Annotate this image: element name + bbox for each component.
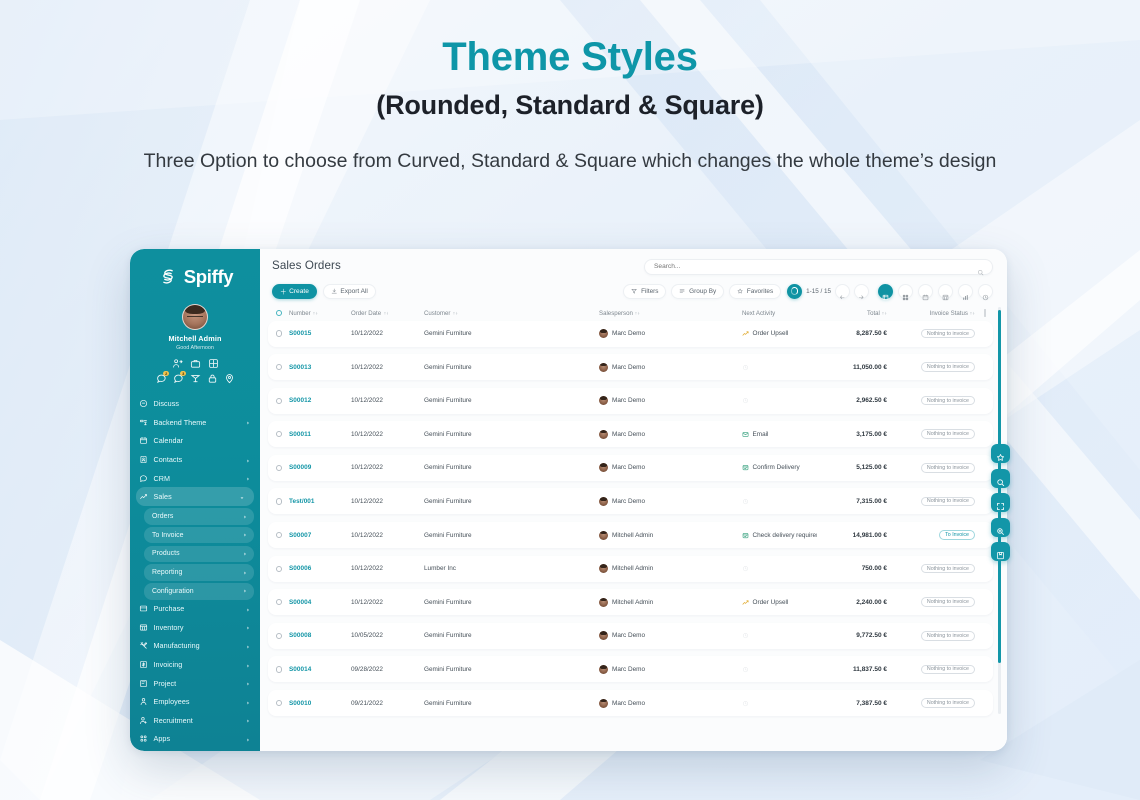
salesperson-avatar (599, 497, 608, 506)
breadcrumb: Sales Orders (272, 259, 341, 272)
sidebar-item-label: Discuss (154, 399, 252, 408)
sort-icon[interactable] (384, 311, 389, 316)
sidebar-item-calendar[interactable]: Calendar (130, 432, 260, 451)
total-amount: 7,387.50 € (856, 700, 887, 707)
row-checkbox[interactable] (272, 364, 289, 370)
checkbox-ring (276, 599, 282, 605)
sidebar-item-purchase[interactable]: Purchase (130, 600, 260, 619)
order-number-link[interactable]: S00008 (289, 632, 311, 639)
contacts-icon (139, 455, 148, 464)
cell-number[interactable]: S00009 (289, 464, 351, 471)
calendar-check-icon[interactable] (742, 464, 749, 471)
salesperson-name: Marc Demo (612, 364, 645, 371)
checkbox-ring (276, 465, 282, 471)
sidebar-item-project[interactable]: Project (130, 674, 260, 693)
sidebar-item-label: Calendar (154, 436, 252, 445)
cell-customer: Gemini Furniture (424, 364, 599, 371)
cell-invoice-status: Nothing to invoice (887, 396, 975, 406)
row-checkbox[interactable] (272, 566, 289, 572)
column-label: Salesperson (599, 310, 633, 317)
table-row[interactable]: S00012 10/12/2022 Gemini Furniture Marc … (268, 388, 993, 414)
create-label: Create (289, 288, 309, 295)
row-checkbox[interactable] (272, 330, 289, 336)
sidebar-item-label: Backend Theme (154, 418, 240, 427)
chevron-right-icon (245, 475, 251, 481)
cell-total: 7,315.00 € (817, 498, 887, 505)
cell-next-activity[interactable]: Order Upsell (742, 330, 817, 337)
cell-invoice-status: Nothing to invoice (887, 564, 975, 574)
order-number-link[interactable]: S00013 (289, 364, 311, 371)
row-checkbox[interactable] (272, 431, 289, 437)
total-amount: 2,240.00 € (856, 599, 887, 606)
status-badge: Nothing to invoice (921, 497, 975, 507)
status-badge: Nothing to invoice (921, 429, 975, 439)
cell-order-date: 10/12/2022 (351, 464, 424, 471)
cell-salesperson: Marc Demo (599, 631, 742, 640)
order-number-link[interactable]: S00006 (289, 565, 311, 572)
chevron-right-icon (245, 662, 251, 668)
cell-next-activity[interactable] (742, 666, 817, 673)
quick-icons-row-2: 2 3 (130, 373, 260, 384)
table-row[interactable]: Test/001 10/12/2022 Gemini Furniture Mar… (268, 488, 993, 514)
page-title: Theme Styles (0, 34, 1140, 80)
row-checkbox[interactable] (272, 666, 289, 672)
table-row[interactable]: S00006 10/12/2022 Lumber Inc Mitchell Ad… (268, 556, 993, 582)
row-checkbox[interactable] (272, 532, 289, 538)
filters-button[interactable]: Filters (623, 284, 666, 299)
clock-icon[interactable] (742, 700, 749, 707)
user-greeting: Good Afternoon (130, 345, 260, 351)
cell-invoice-status: Nothing to invoice (887, 497, 975, 507)
cell-salesperson: Marc Demo (599, 665, 742, 674)
status-badge: Nothing to invoice (921, 564, 975, 574)
kanban-view-icon[interactable] (898, 284, 913, 299)
sidebar-item-label: Manufacturing (154, 641, 240, 650)
sidebar-item-apps[interactable]: Apps (130, 730, 260, 749)
order-number-link[interactable]: S00015 (289, 330, 311, 337)
cell-number[interactable]: S00006 (289, 565, 351, 572)
user-switch-icon[interactable] (172, 358, 183, 369)
group-by-label: Group By (689, 288, 716, 295)
cell-order-date: 10/12/2022 (351, 431, 424, 438)
sidebar-item-label: Invoicing (154, 660, 240, 669)
chevron-right-icon (242, 551, 248, 557)
cell-salesperson: Marc Demo (599, 430, 742, 439)
column-header-salesperson[interactable]: Salesperson (599, 310, 742, 317)
cell-next-activity[interactable] (742, 565, 817, 572)
sidebar-item-products[interactable]: Products (144, 546, 254, 563)
cell-number[interactable]: S00014 (289, 666, 351, 673)
lock-icon[interactable] (207, 373, 218, 384)
total-amount: 2,962.50 € (856, 397, 887, 404)
cell-invoice-status: Nothing to invoice (887, 698, 975, 708)
plus-icon: ＋ (280, 286, 287, 296)
messages-badge: 2 (163, 371, 169, 377)
checkbox-ring (276, 310, 282, 316)
sidebar-item-manufacturing[interactable]: Manufacturing (130, 637, 260, 656)
cell-number[interactable]: S00010 (289, 700, 351, 707)
salesperson-avatar (599, 631, 608, 640)
chevron-right-icon (245, 699, 251, 705)
sidebar-item-label: Products (152, 550, 237, 557)
avatar-wrapper[interactable] (130, 304, 260, 330)
search-bar[interactable] (644, 259, 993, 275)
filters-label: Filters (641, 288, 658, 295)
pager-count: 1-15 / 15 (806, 288, 831, 295)
total-amount: 14,981.00 € (853, 532, 887, 539)
cell-order-date: 10/05/2022 (351, 632, 424, 639)
manufacturing-icon (139, 641, 148, 650)
total-amount: 9,772.50 € (856, 632, 887, 639)
order-number-link[interactable]: S00011 (289, 431, 311, 438)
column-label: Invoice Status (930, 310, 968, 317)
search-input[interactable] (654, 263, 977, 270)
sidebar-item-label: Employees (154, 697, 240, 706)
sidebar-item-label: Reporting (152, 569, 237, 576)
sort-icon[interactable] (313, 311, 318, 316)
sidebar-item-label: Project (154, 679, 240, 688)
salesperson-avatar (599, 430, 608, 439)
chevron-right-icon (242, 514, 248, 520)
activities-icon[interactable]: 3 (173, 373, 184, 384)
column-header-next-activity[interactable]: Next Activity (742, 310, 817, 317)
brand[interactable]: Spiffy (130, 261, 260, 293)
apps-icon (139, 734, 148, 743)
column-label: Number (289, 310, 311, 317)
chart-up-icon[interactable] (742, 599, 749, 606)
sales-icon (139, 492, 148, 501)
zoom-icon (996, 523, 1005, 532)
cell-next-activity[interactable]: Check delivery requirements (742, 532, 817, 539)
sidebar: Spiffy Mitchell Admin Good Afternoon (130, 249, 260, 751)
cell-salesperson: Mitchell Admin (599, 564, 742, 573)
favorites-label: Favorites (747, 288, 773, 295)
order-number-link[interactable]: Test/001 (289, 498, 315, 505)
group-by-button[interactable]: Group By (671, 284, 724, 299)
cell-customer: Gemini Furniture (424, 498, 599, 505)
table-area: Number Order Date Customer Salesperson N… (260, 306, 1007, 717)
salesperson-avatar (599, 329, 608, 338)
sidebar-item-reporting[interactable]: Reporting (144, 564, 254, 581)
cell-salesperson: Marc Demo (599, 363, 742, 372)
expand-icon (996, 498, 1005, 507)
zoom-button[interactable] (991, 518, 1010, 537)
cell-customer: Gemini Furniture (424, 330, 599, 337)
inventory-icon (139, 623, 148, 632)
cell-customer: Gemini Furniture (424, 632, 599, 639)
table-row[interactable]: S00008 10/05/2022 Gemini Furniture Marc … (268, 623, 993, 649)
app-window-mockup: Spiffy Mitchell Admin Good Afternoon (130, 249, 1007, 751)
cell-order-date: 09/28/2022 (351, 666, 424, 673)
column-header-number[interactable]: Number (289, 310, 351, 317)
order-number-link[interactable]: S00004 (289, 599, 311, 606)
cell-number[interactable]: S00011 (289, 431, 351, 438)
clock-icon[interactable] (742, 666, 749, 673)
cell-customer: Gemini Furniture (424, 666, 599, 673)
clock-icon[interactable] (742, 498, 749, 505)
row-checkbox[interactable] (272, 633, 289, 639)
row-checkbox[interactable] (272, 599, 289, 605)
order-number-link[interactable]: S00012 (289, 397, 311, 404)
next-activity-label: Order Upsell (753, 330, 789, 337)
cell-next-activity[interactable] (742, 397, 817, 404)
cell-number[interactable]: S00004 (289, 599, 351, 606)
cell-salesperson: Mitchell Admin (599, 531, 742, 540)
row-checkbox[interactable] (272, 465, 289, 471)
activities-badge: 3 (180, 371, 186, 377)
cell-next-activity[interactable] (742, 364, 817, 371)
messages-icon[interactable]: 2 (156, 373, 167, 384)
column-label: Order Date (351, 310, 381, 317)
cell-number[interactable]: S00013 (289, 364, 351, 371)
checkbox-ring (276, 330, 282, 336)
floating-toolbar (991, 444, 1010, 561)
status-badge: Nothing to invoice (921, 463, 975, 473)
salesperson-name: Marc Demo (612, 498, 645, 505)
salesperson-avatar (599, 564, 608, 573)
column-header-customer[interactable]: Customer (424, 310, 599, 317)
cell-invoice-status: To Invoice (887, 530, 975, 540)
sidebar-item-invoicing[interactable]: Invoicing (130, 655, 260, 674)
purchase-icon (139, 604, 148, 613)
cell-total: 2,240.00 € (817, 599, 887, 606)
cell-salesperson: Marc Demo (599, 463, 742, 472)
order-number-link[interactable]: S00010 (289, 700, 311, 707)
table-row[interactable]: S00009 10/12/2022 Gemini Furniture Marc … (268, 455, 993, 481)
cell-salesperson: Mitchell Admin (599, 598, 742, 607)
sidebar-item-settings[interactable]: Settings (130, 748, 260, 751)
cell-number[interactable]: S00007 (289, 532, 351, 539)
chevron-down-icon (239, 494, 245, 500)
pager: 1-15 / 15 (787, 284, 869, 299)
chevron-right-icon (245, 680, 251, 686)
graph-view-icon[interactable] (958, 284, 973, 299)
chevron-right-icon (245, 624, 251, 630)
cell-next-activity[interactable]: Order Upsell (742, 599, 817, 606)
row-checkbox[interactable] (272, 398, 289, 404)
star-icon (737, 288, 743, 294)
cell-customer: Gemini Furniture (424, 532, 599, 539)
checkbox-ring (276, 431, 282, 437)
clock-icon[interactable] (742, 397, 749, 404)
cell-total: 14,981.00 € (817, 532, 887, 539)
clock-icon[interactable] (742, 632, 749, 639)
salesperson-avatar (599, 396, 608, 405)
salesperson-name: Marc Demo (612, 397, 645, 404)
graph-view-glyph (962, 288, 969, 295)
cell-number[interactable]: S00012 (289, 397, 351, 404)
clock-icon[interactable] (742, 565, 749, 572)
cell-next-activity[interactable]: Email (742, 431, 817, 438)
theme-icon (139, 418, 148, 427)
briefcase-icon[interactable] (190, 358, 201, 369)
select-all-checkbox[interactable] (272, 310, 289, 316)
cell-invoice-status: Nothing to invoice (887, 329, 975, 339)
spiffy-logo-icon (157, 266, 179, 288)
arrow-right-icon (858, 288, 865, 295)
checkbox-ring (276, 498, 282, 504)
create-button[interactable]: ＋ Create (272, 284, 317, 299)
sidebar-menu: Discuss Backend Theme Calendar Contacts … (130, 395, 260, 752)
cell-invoice-status: Nothing to invoice (887, 631, 975, 641)
cell-total: 11,837.50 € (817, 666, 887, 673)
chevron-right-icon (242, 588, 248, 594)
chevron-right-icon (245, 457, 251, 463)
table-row[interactable]: S00007 10/12/2022 Gemini Furniture Mitch… (268, 522, 993, 548)
sort-icon[interactable] (882, 311, 887, 316)
download-icon (331, 288, 338, 295)
chevron-right-icon (245, 419, 251, 425)
employees-icon (139, 697, 148, 706)
loading-spinner-icon (787, 284, 802, 299)
next-activity-label: Email (753, 431, 769, 438)
sort-icon[interactable] (970, 311, 975, 316)
chevron-right-icon (242, 570, 248, 576)
sidebar-item-sales[interactable]: Sales (136, 487, 254, 506)
calendar-check-icon[interactable] (742, 532, 749, 539)
table-row[interactable]: S00004 10/12/2022 Gemini Furniture Mitch… (268, 589, 993, 615)
sidebar-item-label: Apps (154, 734, 240, 743)
salesperson-avatar (599, 531, 608, 540)
status-badge: Nothing to invoice (921, 362, 975, 372)
next-activity-label: Confirm Delivery (753, 464, 800, 471)
chevron-right-icon (245, 606, 251, 612)
sidebar-item-backend-theme[interactable]: Backend Theme (130, 413, 260, 432)
row-checkbox[interactable] (272, 498, 289, 504)
cell-order-date: 10/12/2022 (351, 532, 424, 539)
total-amount: 5,125.00 € (856, 464, 887, 471)
search-icon (996, 474, 1005, 483)
cell-total: 750.00 € (817, 565, 887, 572)
cell-total: 11,050.00 € (817, 364, 887, 371)
salesperson-name: Marc Demo (612, 666, 645, 673)
sort-icon[interactable] (635, 311, 640, 316)
cell-next-activity[interactable] (742, 632, 817, 639)
cell-next-activity[interactable] (742, 498, 817, 505)
sidebar-item-discuss[interactable]: Discuss (130, 395, 260, 414)
cell-next-activity[interactable]: Confirm Delivery (742, 464, 817, 471)
email-icon[interactable] (742, 431, 749, 438)
cell-customer: Gemini Furniture (424, 464, 599, 471)
cell-number[interactable]: Test/001 (289, 498, 351, 505)
checkbox-ring (276, 633, 282, 639)
chevron-right-icon (245, 643, 251, 649)
fullscreen-button[interactable] (991, 493, 1010, 512)
sidebar-item-label: Purchase (154, 604, 240, 613)
sidebar-item-inventory[interactable]: Inventory (130, 618, 260, 637)
salesperson-avatar (599, 463, 608, 472)
search-icon[interactable] (977, 263, 984, 270)
table-row[interactable]: S00011 10/12/2022 Gemini Furniture Marc … (268, 421, 993, 447)
bookmark-icon (996, 547, 1005, 556)
cell-number[interactable]: S00008 (289, 632, 351, 639)
order-number-link[interactable]: S00009 (289, 464, 311, 471)
sort-icon[interactable] (453, 311, 458, 316)
cell-invoice-status: Nothing to invoice (887, 597, 975, 607)
column-header-order-date[interactable]: Order Date (351, 310, 424, 317)
cell-customer: Gemini Furniture (424, 431, 599, 438)
page-subtitle: (Rounded, Standard & Square) (0, 90, 1140, 121)
cell-total: 9,772.50 € (817, 632, 887, 639)
total-amount: 7,315.00 € (856, 498, 887, 505)
chart-up-icon[interactable] (742, 330, 749, 337)
row-checkbox[interactable] (272, 700, 289, 706)
sidebar-item-label: CRM (154, 474, 240, 483)
checkbox-ring (276, 666, 282, 672)
status-badge: Nothing to invoice (921, 597, 975, 607)
sidebar-item-label: Configuration (152, 588, 237, 595)
column-header-total[interactable]: Total (817, 310, 887, 317)
brand-name: Spiffy (184, 266, 234, 288)
bottom-fade (260, 725, 1007, 751)
search-button[interactable] (991, 469, 1010, 488)
sidebar-item-to-invoice[interactable]: To Invoice (144, 527, 254, 544)
status-badge: Nothing to invoice (921, 396, 975, 406)
table-row[interactable]: S00015 10/12/2022 Gemini Furniture Marc … (268, 321, 993, 347)
total-amount: 11,050.00 € (853, 364, 887, 371)
salesperson-name: Mitchell Admin (612, 565, 653, 572)
cell-invoice-status: Nothing to invoice (887, 362, 975, 372)
salesperson-avatar (599, 699, 608, 708)
sidebar-item-recruitment[interactable]: Recruitment (130, 711, 260, 730)
cell-order-date: 09/21/2022 (351, 700, 424, 707)
list-view-icon[interactable] (878, 284, 893, 299)
sidebar-item-crm[interactable]: CRM (130, 469, 260, 488)
sidebar-item-orders[interactable]: Orders (144, 508, 254, 525)
cell-total: 3,175.00 € (817, 431, 887, 438)
column-header-invoice-status[interactable]: Invoice Status (887, 310, 975, 317)
checkbox-ring (276, 566, 282, 572)
salesperson-avatar (599, 363, 608, 372)
apps-grid-icon[interactable] (208, 358, 219, 369)
checkbox-ring (276, 398, 282, 404)
topbar: Sales Orders ＋ Create (260, 249, 1007, 299)
cell-total: 5,125.00 € (817, 464, 887, 471)
favorite-star-button[interactable] (991, 444, 1010, 463)
location-pin-icon[interactable] (224, 373, 235, 384)
column-options-button[interactable] (975, 309, 987, 317)
table-row[interactable]: S00014 09/28/2022 Gemini Furniture Marc … (268, 656, 993, 682)
clock-icon[interactable] (742, 364, 749, 371)
pager-prev-button[interactable] (835, 284, 850, 299)
user-name: Mitchell Admin (130, 334, 260, 343)
calendar-view-icon[interactable] (918, 284, 933, 299)
column-label: Next Activity (742, 310, 775, 317)
avatar[interactable] (182, 304, 208, 330)
mail-icon[interactable] (190, 373, 201, 384)
bookmark-button[interactable] (991, 542, 1010, 561)
pager-next-button[interactable] (854, 284, 869, 299)
table-row[interactable]: S00010 09/21/2022 Gemini Furniture Marc … (268, 690, 993, 716)
view-controls: Filters Group By (623, 284, 993, 299)
sidebar-item-configuration[interactable]: Configuration (144, 583, 254, 600)
table-row[interactable]: S00013 10/12/2022 Gemini Furniture Marc … (268, 354, 993, 380)
cell-next-activity[interactable] (742, 700, 817, 707)
cell-number[interactable]: S00015 (289, 330, 351, 337)
sidebar-item-contacts[interactable]: Contacts (130, 450, 260, 469)
arrow-left-icon (839, 288, 846, 295)
order-number-link[interactable]: S00007 (289, 532, 311, 539)
cell-salesperson: Marc Demo (599, 329, 742, 338)
pivot-view-icon[interactable] (938, 284, 953, 299)
export-all-button[interactable]: Export All (323, 284, 376, 299)
cell-order-date: 10/12/2022 (351, 565, 424, 572)
favorites-button[interactable]: Favorites (729, 284, 781, 299)
activity-view-icon[interactable] (978, 284, 993, 299)
order-number-link[interactable]: S00014 (289, 666, 311, 673)
salesperson-name: Mitchell Admin (612, 532, 653, 539)
sidebar-item-employees[interactable]: Employees (130, 692, 260, 711)
